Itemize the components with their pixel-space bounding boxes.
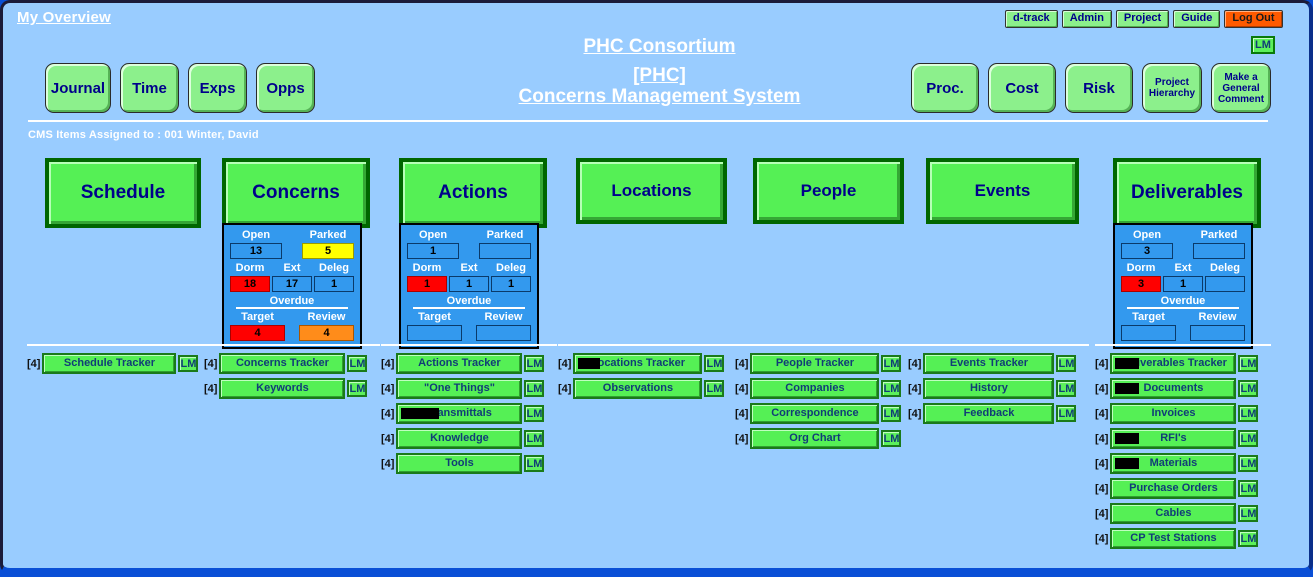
- stat-open: Open13: [230, 229, 282, 259]
- stat-parked-label: Parked: [302, 229, 354, 242]
- tracker-button-label: Locations Tracker: [591, 357, 685, 369]
- tracker-row: [4]People TrackerLM: [735, 353, 918, 374]
- tracker-row: [4]CablesLM: [1095, 503, 1275, 524]
- tracker-button-people-tracker[interactable]: People Tracker: [750, 353, 879, 374]
- tracker-row: [4]KeywordsLM: [204, 378, 384, 399]
- tracker-button-observations[interactable]: Observations: [573, 378, 702, 399]
- stat-ext: Ext17: [272, 262, 312, 292]
- column-divider: [1095, 344, 1271, 346]
- tracker-row: [4]MaterialsLM: [1095, 453, 1275, 474]
- tracker-button-label: "One Things": [424, 382, 495, 394]
- redaction-bar: [578, 358, 600, 369]
- tracker-row: [4]TransmittalsLM: [381, 403, 561, 424]
- tracker-count: [4]: [27, 356, 40, 372]
- stat-deleg: Deleg: [1205, 262, 1245, 292]
- redaction-bar: [1115, 433, 1139, 444]
- tracker-row: [4]CorrespondenceLM: [735, 403, 918, 424]
- tracker-button-label: CP Test Stations: [1130, 532, 1216, 544]
- stats-panel-actions: Open1ParkedDorm1Ext1Deleg1OverdueTargetR…: [399, 223, 539, 349]
- tracker-button-locations-tracker[interactable]: Locations Tracker: [573, 353, 702, 374]
- lm-badge[interactable]: LM: [1056, 380, 1076, 397]
- tracker-button-documents[interactable]: Documents: [1110, 378, 1236, 399]
- tracker-button-label: Feedback: [964, 407, 1015, 419]
- stat-deleg-label: Deleg: [314, 262, 354, 275]
- tracker-count: [4]: [381, 431, 394, 447]
- category-button-deliverables[interactable]: Deliverables: [1113, 158, 1261, 228]
- stat-ext-value: 1: [449, 276, 489, 292]
- stat-review-value: [1190, 325, 1245, 341]
- redaction-bar: [1115, 358, 1139, 369]
- tracker-row: [4]Schedule TrackerLM: [27, 353, 215, 374]
- stat-target-label: Target: [1121, 311, 1176, 324]
- stat-open-label: Open: [1121, 229, 1173, 242]
- tracker-button-label: Purchase Orders: [1129, 482, 1218, 494]
- tracker-list-concerns: [4]Concerns TrackerLM[4]KeywordsLM: [204, 353, 384, 403]
- lm-badge[interactable]: LM: [1238, 380, 1258, 397]
- redaction-bar: [401, 408, 439, 419]
- category-button-concerns[interactable]: Concerns: [222, 158, 370, 228]
- stat-review: Review: [1190, 311, 1245, 341]
- stat-open: Open1: [407, 229, 459, 259]
- stat-parked: Parked: [479, 229, 531, 259]
- stats-row-3: TargetReview: [1121, 311, 1245, 341]
- tracker-button-cables[interactable]: Cables: [1110, 503, 1236, 524]
- tracker-count: [4]: [735, 406, 748, 422]
- tracker-button-label: Knowledge: [430, 432, 489, 444]
- lm-badge[interactable]: LM: [881, 430, 901, 447]
- stat-review-label: Review: [299, 311, 354, 324]
- tracker-button-label: Materials: [1150, 457, 1198, 469]
- tracker-count: [4]: [558, 356, 571, 372]
- stat-parked-label: Parked: [479, 229, 531, 242]
- tracker-row: [4]"One Things"LM: [381, 378, 561, 399]
- lm-badge[interactable]: LM: [704, 380, 724, 397]
- lm-badge[interactable]: LM: [1238, 430, 1258, 447]
- tracker-list-events: [4]Events TrackerLM[4]HistoryLM[4]Feedba…: [908, 353, 1093, 428]
- tracker-row: [4]FeedbackLM: [908, 403, 1093, 424]
- stat-overdue-divider: [236, 307, 348, 309]
- stat-overdue-label: Overdue: [1121, 295, 1245, 307]
- stat-open-label: Open: [407, 229, 459, 242]
- tracker-row: [4]Locations TrackerLM: [558, 353, 741, 374]
- tracker-button-rfi-s[interactable]: RFI's: [1110, 428, 1236, 449]
- stat-parked-value: 5: [302, 243, 354, 259]
- lm-badge[interactable]: LM: [347, 380, 367, 397]
- tracker-row: [4]ObservationsLM: [558, 378, 741, 399]
- tracker-button-label: Concerns Tracker: [236, 357, 329, 369]
- category-button-schedule[interactable]: Schedule: [45, 158, 201, 228]
- lm-badge[interactable]: LM: [704, 355, 724, 372]
- stat-target-label: Target: [407, 311, 462, 324]
- stat-deleg-label: Deleg: [1205, 262, 1245, 275]
- tracker-button-label: Actions Tracker: [418, 357, 501, 369]
- category-button-locations[interactable]: Locations: [576, 158, 727, 224]
- stats-row-3: TargetReview: [407, 311, 531, 341]
- lm-badge[interactable]: LM: [1238, 355, 1258, 372]
- tracker-row: [4]DocumentsLM: [1095, 378, 1275, 399]
- column-divider: [204, 344, 380, 346]
- stats-panel-concerns: Open13Parked5Dorm18Ext17Deleg1OverdueTar…: [222, 223, 362, 349]
- tracker-button-label: Cables: [1155, 507, 1191, 519]
- tracker-row: [4]Events TrackerLM: [908, 353, 1093, 374]
- stat-review-label: Review: [476, 311, 531, 324]
- tracker-count: [4]: [381, 406, 394, 422]
- tracker-row: [4]InvoicesLM: [1095, 403, 1275, 424]
- stat-deleg-value: 1: [314, 276, 354, 292]
- lm-badge[interactable]: LM: [881, 380, 901, 397]
- tracker-row: [4]Org ChartLM: [735, 428, 918, 449]
- stat-parked: Parked: [1193, 229, 1245, 259]
- lm-badge[interactable]: LM: [1056, 405, 1076, 422]
- tracker-count: [4]: [1095, 381, 1108, 397]
- column-divider: [381, 344, 557, 346]
- stat-target: Target: [1121, 311, 1176, 341]
- lm-badge[interactable]: LM: [524, 380, 544, 397]
- tracker-row: [4]Actions TrackerLM: [381, 353, 561, 374]
- category-button-events[interactable]: Events: [926, 158, 1079, 224]
- tracker-button-transmittals[interactable]: Transmittals: [396, 403, 522, 424]
- tracker-count: [4]: [908, 356, 921, 372]
- tracker-button-schedule-tracker[interactable]: Schedule Tracker: [42, 353, 176, 374]
- tracker-button-label: Tools: [445, 457, 474, 469]
- tracker-count: [4]: [908, 381, 921, 397]
- tracker-button-companies[interactable]: Companies: [750, 378, 879, 399]
- tracker-button-materials[interactable]: Materials: [1110, 453, 1236, 474]
- tracker-button-correspondence[interactable]: Correspondence: [750, 403, 879, 424]
- tracker-row: [4]Deliverables TrackerLM: [1095, 353, 1275, 374]
- tracker-button-label: Events Tracker: [950, 357, 1028, 369]
- column-divider: [735, 344, 914, 346]
- tracker-button-label: Keywords: [256, 382, 309, 394]
- lm-badge[interactable]: LM: [524, 405, 544, 422]
- lm-badge[interactable]: LM: [881, 355, 901, 372]
- stat-open: Open3: [1121, 229, 1173, 259]
- stats-row-1: Open1Parked: [407, 229, 531, 259]
- tracker-button-label: Documents: [1144, 382, 1204, 394]
- stat-deleg-value: 1: [491, 276, 531, 292]
- tracker-button-events-tracker[interactable]: Events Tracker: [923, 353, 1054, 374]
- tracker-count: [4]: [735, 356, 748, 372]
- tracker-button-invoices[interactable]: Invoices: [1110, 403, 1236, 424]
- tracker-list-locations: [4]Locations TrackerLM[4]ObservationsLM: [558, 353, 741, 403]
- tracker-button-actions-tracker[interactable]: Actions Tracker: [396, 353, 522, 374]
- tracker-row: [4]CP Test StationsLM: [1095, 528, 1275, 549]
- tracker-row: [4]CompaniesLM: [735, 378, 918, 399]
- tracker-count: [4]: [381, 381, 394, 397]
- stat-open-label: Open: [230, 229, 282, 242]
- tracker-count: [4]: [1095, 431, 1108, 447]
- tracker-row: [4]Concerns TrackerLM: [204, 353, 384, 374]
- tracker-row: [4]ToolsLM: [381, 453, 561, 474]
- stat-review: Review4: [299, 311, 354, 341]
- columns-root: Schedule[4]Schedule TrackerLMConcernsOpe…: [3, 3, 1313, 577]
- tracker-list-people: [4]People TrackerLM[4]CompaniesLM[4]Corr…: [735, 353, 918, 453]
- stat-ext-label: Ext: [1163, 262, 1203, 275]
- tracker-button-label: Correspondence: [771, 407, 858, 419]
- tracker-button-label: Companies: [785, 382, 844, 394]
- stat-parked-value: [479, 243, 531, 259]
- tracker-list-deliverables: [4]Deliverables TrackerLM[4]DocumentsLM[…: [1095, 353, 1275, 553]
- tracker-button-deliverables-tracker[interactable]: Deliverables Tracker: [1110, 353, 1236, 374]
- tracker-count: [4]: [1095, 506, 1108, 522]
- tracker-button-label: People Tracker: [776, 357, 854, 369]
- tracker-button-label: Schedule Tracker: [64, 357, 155, 369]
- stat-target: Target4: [230, 311, 285, 341]
- tracker-count: [4]: [204, 356, 217, 372]
- stat-dorm-label: Dorm: [230, 262, 270, 275]
- tracker-count: [4]: [1095, 531, 1108, 547]
- stat-parked: Parked5: [302, 229, 354, 259]
- stat-ext: Ext1: [1163, 262, 1203, 292]
- stat-dorm-value: 3: [1121, 276, 1161, 292]
- stat-parked-label: Parked: [1193, 229, 1245, 242]
- stat-dorm: Dorm18: [230, 262, 270, 292]
- stat-review-value: [476, 325, 531, 341]
- stat-ext-value: 1: [1163, 276, 1203, 292]
- tracker-row: [4]HistoryLM: [908, 378, 1093, 399]
- tracker-button-label: History: [970, 382, 1008, 394]
- category-button-people[interactable]: People: [753, 158, 904, 224]
- stat-target-label: Target: [230, 311, 285, 324]
- tracker-row: [4]RFI'sLM: [1095, 428, 1275, 449]
- tracker-button-tools[interactable]: Tools: [396, 453, 522, 474]
- stats-row-2: Dorm3Ext1Deleg: [1121, 262, 1245, 292]
- stat-dorm: Dorm3: [1121, 262, 1161, 292]
- lm-badge[interactable]: LM: [524, 455, 544, 472]
- stat-dorm-value: 18: [230, 276, 270, 292]
- lm-badge[interactable]: LM: [347, 355, 367, 372]
- stat-review-label: Review: [1190, 311, 1245, 324]
- stat-open-value: 1: [407, 243, 459, 259]
- tracker-count: [4]: [204, 381, 217, 397]
- tracker-button-history[interactable]: History: [923, 378, 1054, 399]
- tracker-button-label: Invoices: [1151, 407, 1195, 419]
- stat-ext-label: Ext: [449, 262, 489, 275]
- tracker-button-cp-test-stations[interactable]: CP Test Stations: [1110, 528, 1236, 549]
- stat-open-value: 13: [230, 243, 282, 259]
- tracker-count: [4]: [908, 406, 921, 422]
- column-divider: [558, 344, 737, 346]
- stat-dorm-label: Dorm: [1121, 262, 1161, 275]
- tracker-list-actions: [4]Actions TrackerLM[4]"One Things"LM[4]…: [381, 353, 561, 478]
- stat-ext-value: 17: [272, 276, 312, 292]
- lm-badge[interactable]: LM: [178, 355, 198, 372]
- column-divider: [27, 344, 211, 346]
- stats-row-1: Open3Parked: [1121, 229, 1245, 259]
- stat-target-value: [407, 325, 462, 341]
- stat-deleg-value: [1205, 276, 1245, 292]
- lm-badge[interactable]: LM: [881, 405, 901, 422]
- tracker-button--one-things-[interactable]: "One Things": [396, 378, 522, 399]
- app-window: My Overview d-trackAdminProjectGuideLog …: [0, 0, 1313, 574]
- tracker-button-org-chart[interactable]: Org Chart: [750, 428, 879, 449]
- tracker-button-purchase-orders[interactable]: Purchase Orders: [1110, 478, 1236, 499]
- stat-target-value: [1121, 325, 1176, 341]
- stat-review-value: 4: [299, 325, 354, 341]
- lm-badge[interactable]: LM: [1238, 530, 1258, 547]
- tracker-count: [4]: [1095, 481, 1108, 497]
- redaction-bar: [1115, 458, 1139, 469]
- tracker-count: [4]: [1095, 356, 1108, 372]
- lm-badge[interactable]: LM: [1238, 480, 1258, 497]
- stat-overdue-divider: [1127, 307, 1239, 309]
- stat-review: Review: [476, 311, 531, 341]
- tracker-button-label: Observations: [603, 382, 673, 394]
- stat-target-value: 4: [230, 325, 285, 341]
- stat-dorm-value: 1: [407, 276, 447, 292]
- tracker-count: [4]: [558, 381, 571, 397]
- stat-open-value: 3: [1121, 243, 1173, 259]
- lm-badge[interactable]: LM: [1056, 355, 1076, 372]
- stat-parked-value: [1193, 243, 1245, 259]
- tracker-list-schedule: [4]Schedule TrackerLM: [27, 353, 215, 378]
- tracker-count: [4]: [1095, 406, 1108, 422]
- stat-ext: Ext1: [449, 262, 489, 292]
- stats-row-2: Dorm18Ext17Deleg1: [230, 262, 354, 292]
- lm-badge[interactable]: LM: [1238, 455, 1258, 472]
- tracker-count: [4]: [1095, 456, 1108, 472]
- stat-ext-label: Ext: [272, 262, 312, 275]
- tracker-count: [4]: [735, 381, 748, 397]
- tracker-row: [4]KnowledgeLM: [381, 428, 561, 449]
- tracker-count: [4]: [735, 431, 748, 447]
- tracker-button-feedback[interactable]: Feedback: [923, 403, 1054, 424]
- lm-badge[interactable]: LM: [524, 430, 544, 447]
- tracker-button-label: RFI's: [1160, 432, 1186, 444]
- tracker-row: [4]Purchase OrdersLM: [1095, 478, 1275, 499]
- stats-row-2: Dorm1Ext1Deleg1: [407, 262, 531, 292]
- stat-deleg-label: Deleg: [491, 262, 531, 275]
- stats-panel-deliverables: Open3ParkedDorm3Ext1DelegOverdueTargetRe…: [1113, 223, 1253, 349]
- tracker-button-label: Org Chart: [789, 432, 840, 444]
- tracker-button-keywords[interactable]: Keywords: [219, 378, 345, 399]
- tracker-button-knowledge[interactable]: Knowledge: [396, 428, 522, 449]
- stat-dorm-label: Dorm: [407, 262, 447, 275]
- column-divider: [908, 344, 1089, 346]
- stat-overdue-label: Overdue: [407, 295, 531, 307]
- stat-overdue-divider: [413, 307, 525, 309]
- lm-badge[interactable]: LM: [1238, 405, 1258, 422]
- lm-badge[interactable]: LM: [1238, 505, 1258, 522]
- redaction-bar: [1115, 383, 1139, 394]
- stat-deleg: Deleg1: [314, 262, 354, 292]
- lm-badge[interactable]: LM: [524, 355, 544, 372]
- stat-dorm: Dorm1: [407, 262, 447, 292]
- stat-deleg: Deleg1: [491, 262, 531, 292]
- tracker-button-concerns-tracker[interactable]: Concerns Tracker: [219, 353, 345, 374]
- stat-overdue-label: Overdue: [230, 295, 354, 307]
- tracker-count: [4]: [381, 356, 394, 372]
- stats-row-3: Target4Review4: [230, 311, 354, 341]
- tracker-count: [4]: [381, 456, 394, 472]
- category-button-actions[interactable]: Actions: [399, 158, 547, 228]
- stat-target: Target: [407, 311, 462, 341]
- stats-row-1: Open13Parked5: [230, 229, 354, 259]
